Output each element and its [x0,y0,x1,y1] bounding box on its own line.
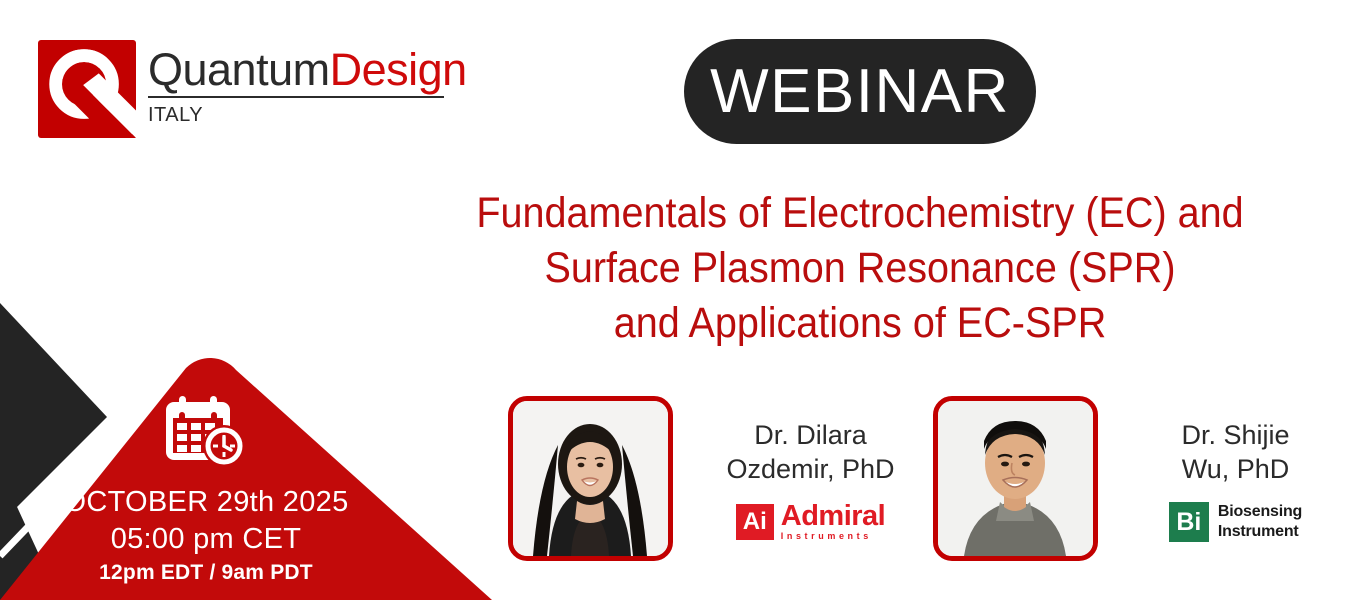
wordmark-country: ITALY [148,104,467,127]
speaker-info: Dr. Shijie Wu, PhD Bi Biosensing Instrum… [1128,396,1343,542]
headshot-dilara-ozdemir [513,401,668,556]
biosensing-name-line-2: Instrument [1218,522,1302,542]
calendar-clock-icon [162,392,250,470]
event-datetime-block: OCTOBER 29th 2025 05:00 pm CET 12pm EDT … [56,392,356,588]
speaker-name-line-1: Dr. Dilara [703,418,918,452]
quantum-design-logo: QuantumDesign ITALY [38,40,467,138]
webinar-badge: WEBINAR [684,39,1036,144]
black-corner-shape [0,470,60,600]
speaker-name: Dr. Shijie Wu, PhD [1128,418,1343,486]
speaker-card: Dr. Dilara Ozdemir, PhD Ai Admiral Instr… [508,396,918,561]
quantum-design-q-mark [38,40,136,138]
speaker-name-line-2: Wu, PhD [1128,452,1343,486]
title-line-2: Surface Plasmon Resonance (SPR) [400,241,1320,296]
event-date: OCTOBER 29th 2025 [56,484,356,520]
biosensing-wordmark: Biosensing Instrument [1218,502,1302,542]
quantum-design-wordmark: QuantumDesign ITALY [148,40,467,127]
avatar [508,396,673,561]
webinar-poster: QuantumDesign ITALY WEBINAR Fundamentals… [0,0,1370,600]
wordmark-quantum: Quantum [148,44,330,95]
title-line-1: Fundamentals of Electrochemistry (EC) an… [400,186,1320,241]
admiral-badge-mark: Ai [736,504,774,540]
speaker-name-line-1: Dr. Shijie [1128,418,1343,452]
speaker-info: Dr. Dilara Ozdemir, PhD Ai Admiral Instr… [703,396,918,542]
headshot-shijie-wu [938,401,1093,556]
wordmark-divider [148,96,444,98]
admiral-subtitle: Instruments [781,530,885,542]
avatar [933,396,1098,561]
biosensing-badge-mark: Bi [1169,502,1209,542]
admiral-instruments-logo: Ai Admiral Instruments [703,502,918,542]
title-line-3: and Applications of EC-SPR [400,296,1320,351]
speaker-card: Dr. Shijie Wu, PhD Bi Biosensing Instrum… [933,396,1343,561]
biosensing-name-line-1: Biosensing [1218,502,1302,522]
biosensing-instrument-logo: Bi Biosensing Instrument [1128,502,1343,542]
admiral-wordmark: Admiral Instruments [781,502,885,542]
page-title: Fundamentals of Electrochemistry (EC) an… [400,186,1320,351]
webinar-badge-label: WEBINAR [710,61,1010,123]
wordmark-design: Design [330,44,467,95]
speaker-name-line-2: Ozdemir, PhD [703,452,918,486]
speaker-name: Dr. Dilara Ozdemir, PhD [703,418,918,486]
wordmark-line: QuantumDesign [148,46,467,93]
admiral-name: Admiral [781,502,885,530]
event-timezones: 12pm EDT / 9am PDT [56,558,356,588]
event-time: 05:00 pm CET [56,520,356,558]
